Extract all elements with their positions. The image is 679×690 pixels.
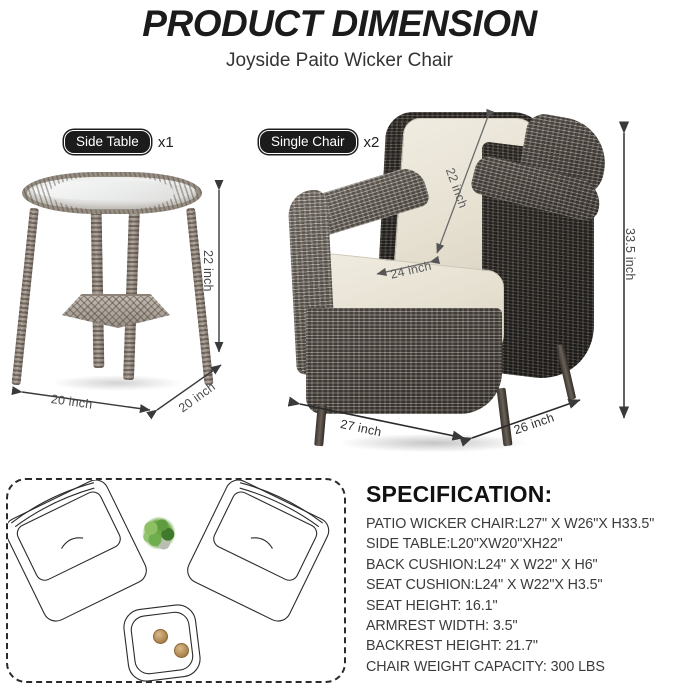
dim-side-table-width: 20 inch xyxy=(50,392,93,412)
side-table-shadow xyxy=(26,372,208,394)
spec-line-side-table: SIDE TABLE:L20"XW20"XH22" xyxy=(366,534,674,554)
cup-icon-1 xyxy=(153,629,168,644)
chair-top-view-right xyxy=(183,480,333,625)
badge-qty-side-table: x1 xyxy=(158,134,174,151)
chair-front-apron xyxy=(306,308,502,414)
side-table-leg-front-left xyxy=(11,208,39,386)
side-table-glass-top xyxy=(22,172,202,214)
specification-section: SPECIFICATION: PATIO WICKER CHAIR:L27" X… xyxy=(366,480,674,677)
side-table-lower-shelf xyxy=(62,294,170,328)
cup-icon-2 xyxy=(174,643,189,658)
badge-side-table: Side Table x1 xyxy=(64,130,174,154)
spec-line-seat-cushion: SEAT CUSHION:L24" X W22"X H3.5" xyxy=(366,575,674,595)
spec-line-weight-capacity: CHAIR WEIGHT CAPACITY: 300 LBS xyxy=(366,657,674,677)
side-table-leg-front-right xyxy=(186,208,214,386)
spec-line-back-cushion: BACK CUSHION:L24" X W22" X H6" xyxy=(366,555,674,575)
specification-title: SPECIFICATION: xyxy=(366,480,674,508)
chair-top-view-left xyxy=(8,480,151,625)
side-table-leg-center-left xyxy=(91,208,105,368)
badge-label-side-table: Side Table xyxy=(64,130,151,154)
page-title: PRODUCT DIMENSION xyxy=(0,4,679,44)
spec-line-armrest-width: ARMREST WIDTH: 3.5" xyxy=(366,616,674,636)
single-chair-illustration xyxy=(286,112,606,422)
side-table-illustration xyxy=(14,172,214,387)
dim-side-table-height: 22 inch xyxy=(201,250,215,292)
page-subtitle: Joyside Paito Wicker Chair xyxy=(0,48,679,74)
spec-line-patio-wicker-chair: PATIO WICKER CHAIR:L27" X W26"X H33.5" xyxy=(366,514,674,534)
potted-plant-icon xyxy=(139,516,179,554)
header: PRODUCT DIMENSION Joyside Paito Wicker C… xyxy=(0,0,679,74)
spec-line-seat-height: SEAT HEIGHT: 16.1" xyxy=(366,596,674,616)
dim-chair-height: 33.5 inch xyxy=(623,228,637,281)
spec-line-backrest-height: BACKREST HEIGHT: 21.7" xyxy=(366,636,674,656)
